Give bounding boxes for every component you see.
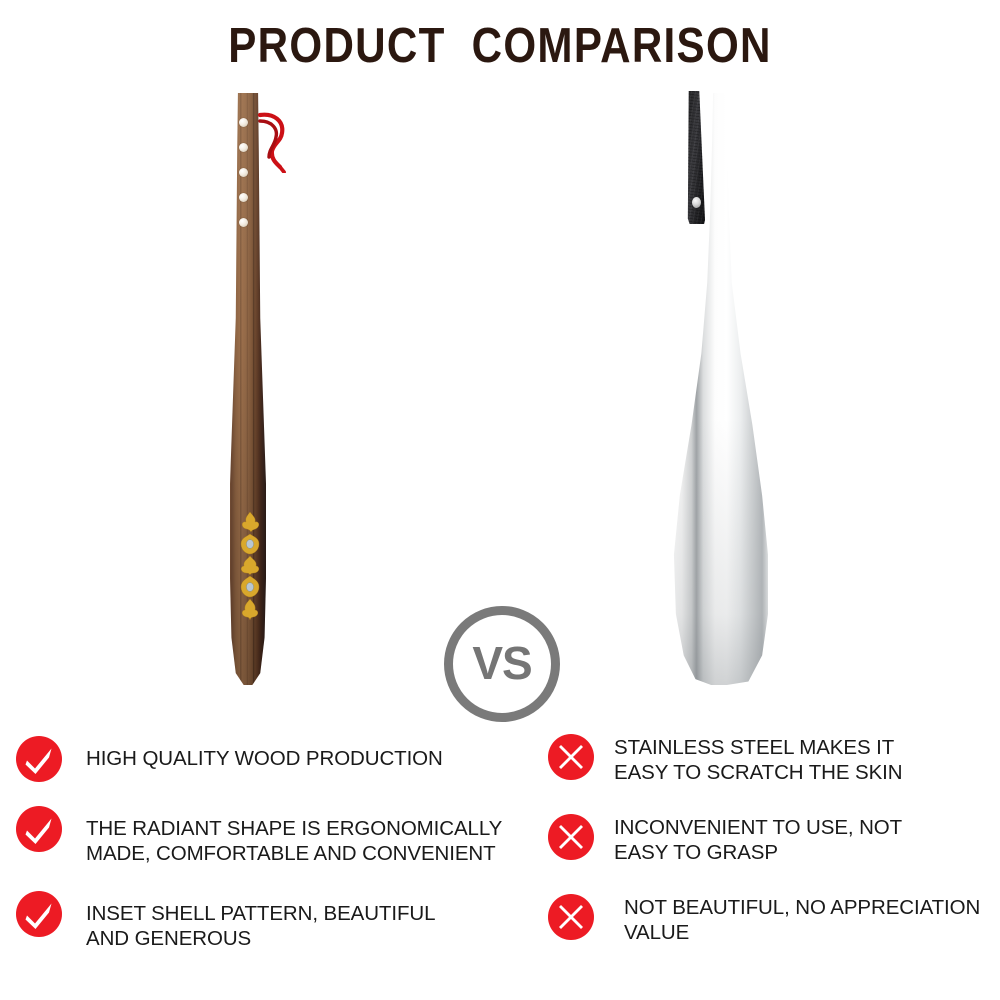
list-item: NOT BEAUTIFUL, NO APPRECIATION VALUE bbox=[548, 894, 980, 945]
product-image-steel-shoehorn bbox=[630, 85, 810, 695]
product-image-wooden-shoehorn bbox=[180, 85, 340, 695]
list-item-label: THE RADIANT SHAPE IS ERGONOMICALLY MADE,… bbox=[86, 806, 502, 866]
check-icon bbox=[16, 806, 62, 852]
page-title: PRODUCT COMPARISON bbox=[70, 18, 930, 74]
gold-floral-inlay-icon bbox=[238, 510, 262, 630]
check-icon bbox=[16, 736, 62, 782]
pearl-inlay-dot bbox=[239, 143, 248, 152]
red-cord-icon bbox=[258, 111, 292, 173]
steel-shoehorn-body bbox=[670, 93, 768, 685]
feature-comparison-lists: HIGH QUALITY WOOD PRODUCTION THE RADIANT… bbox=[0, 722, 1000, 1000]
list-item-label: NOT BEAUTIFUL, NO APPRECIATION VALUE bbox=[624, 894, 980, 945]
list-item-label: INSET SHELL PATTERN, BEAUTIFUL AND GENER… bbox=[86, 891, 435, 951]
vs-label: VS bbox=[472, 636, 531, 690]
cross-icon bbox=[548, 894, 594, 940]
pearl-inlay-dot bbox=[239, 118, 248, 127]
vs-badge: VS bbox=[444, 606, 560, 722]
list-item: HIGH QUALITY WOOD PRODUCTION bbox=[16, 736, 443, 782]
list-item: STAINLESS STEEL MAKES IT EASY TO SCRATCH… bbox=[548, 734, 902, 785]
list-item: INSET SHELL PATTERN, BEAUTIFUL AND GENER… bbox=[16, 891, 435, 951]
pearl-inlay-dot bbox=[239, 218, 248, 227]
list-item: THE RADIANT SHAPE IS ERGONOMICALLY MADE,… bbox=[16, 806, 502, 866]
list-item-label: INCONVENIENT TO USE, NOT EASY TO GRASP bbox=[614, 814, 902, 865]
cross-icon bbox=[548, 814, 594, 860]
product-stage: VS bbox=[0, 85, 1000, 705]
check-icon bbox=[16, 891, 62, 937]
list-item-label: HIGH QUALITY WOOD PRODUCTION bbox=[86, 736, 443, 771]
cross-icon bbox=[548, 734, 594, 780]
pearl-inlay-dot bbox=[239, 193, 248, 202]
list-item: INCONVENIENT TO USE, NOT EASY TO GRASP bbox=[548, 814, 902, 865]
pearl-inlay-dot bbox=[239, 168, 248, 177]
strap-rivet-icon bbox=[692, 197, 701, 208]
list-item-label: STAINLESS STEEL MAKES IT EASY TO SCRATCH… bbox=[614, 734, 902, 785]
product-comparison-page: PRODUCT COMPARISON bbox=[0, 0, 1000, 1000]
